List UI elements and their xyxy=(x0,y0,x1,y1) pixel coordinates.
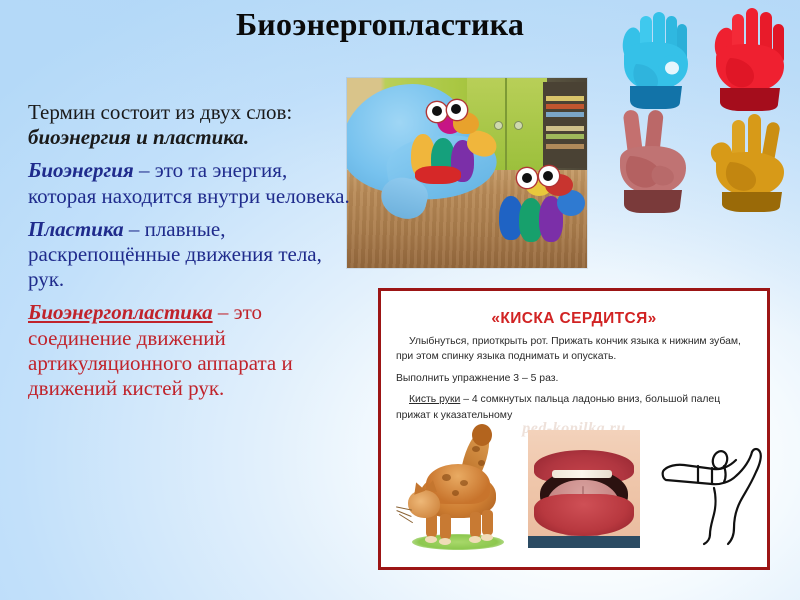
hand-open-palm-icon xyxy=(704,6,796,112)
hand-three-fingers-icon xyxy=(704,112,800,212)
intro-emphasis-text: биоэнергия и пластика. xyxy=(28,125,249,149)
photo-puppet-right xyxy=(499,172,587,250)
term-bioenergy: Биоэнергия xyxy=(28,158,134,182)
angry-cat-illustration xyxy=(408,428,514,548)
hand-line-drawing xyxy=(658,436,770,548)
photo-puppet-left xyxy=(407,104,503,188)
intro-plain-text: Термин состоит из двух слов: xyxy=(28,100,292,124)
exercise-line-1: Улыбнуться, приоткрыть рот. Прижать конч… xyxy=(396,334,752,365)
exercise-card-inner: «КИСКА СЕРДИТСЯ» Улыбнуться, приоткрыть … xyxy=(386,296,762,562)
puppet-eye-right xyxy=(447,100,467,120)
paragraph-bioenergoplastika: Биоэнергопластика – это соединение движе… xyxy=(28,300,358,401)
puppet-eye-left xyxy=(427,102,447,122)
open-mouth-tongue-photo xyxy=(528,430,640,548)
exercise-card-title: «КИСКА СЕРДИТСЯ» xyxy=(386,310,762,328)
term-plastika: Пластика xyxy=(28,217,124,241)
paragraph-bioenergy: Биоэнергия – это та энергия, которая нах… xyxy=(28,158,358,208)
cat-tail-tip xyxy=(472,424,492,446)
mouth-lower-lip xyxy=(534,494,634,536)
exercise-line-2: Выполнить упражнение 3 – 5 раз. xyxy=(396,371,752,386)
hand-victory-gesture-icon xyxy=(602,106,702,214)
term-bioenergoplastika: Биоэнергопластика xyxy=(28,300,213,324)
cat-head xyxy=(408,490,440,518)
paragraph-plastika: Пластика – плавные, раскрепощённые движе… xyxy=(28,217,358,293)
photo-bookshelf xyxy=(543,82,587,168)
text-column: Термин состоит из двух слов: биоэнергия … xyxy=(28,100,358,409)
child-with-finger-puppets-photo xyxy=(347,78,587,268)
paragraph-definition-intro: Термин состоит из двух слов: биоэнергия … xyxy=(28,100,358,150)
photo-cabinet-seam xyxy=(505,78,507,170)
mouth-upper-teeth xyxy=(552,470,612,478)
mouth-photo-bottom-edge xyxy=(528,536,640,548)
exercise-card-figures xyxy=(394,412,754,548)
hand-ok-gesture-icon xyxy=(606,8,702,112)
photo-cabinet-knob-right xyxy=(515,122,522,129)
cat-ear-right xyxy=(425,479,439,492)
exercise-line-3-underlined: Кисть руки xyxy=(409,394,460,405)
hand-gesture-icons xyxy=(600,2,800,220)
exercise-card: «КИСКА СЕРДИТСЯ» Улыбнуться, приоткрыть … xyxy=(378,288,770,570)
slide-canvas: Биоэнергопластика Термин состоит из двух… xyxy=(0,0,800,600)
